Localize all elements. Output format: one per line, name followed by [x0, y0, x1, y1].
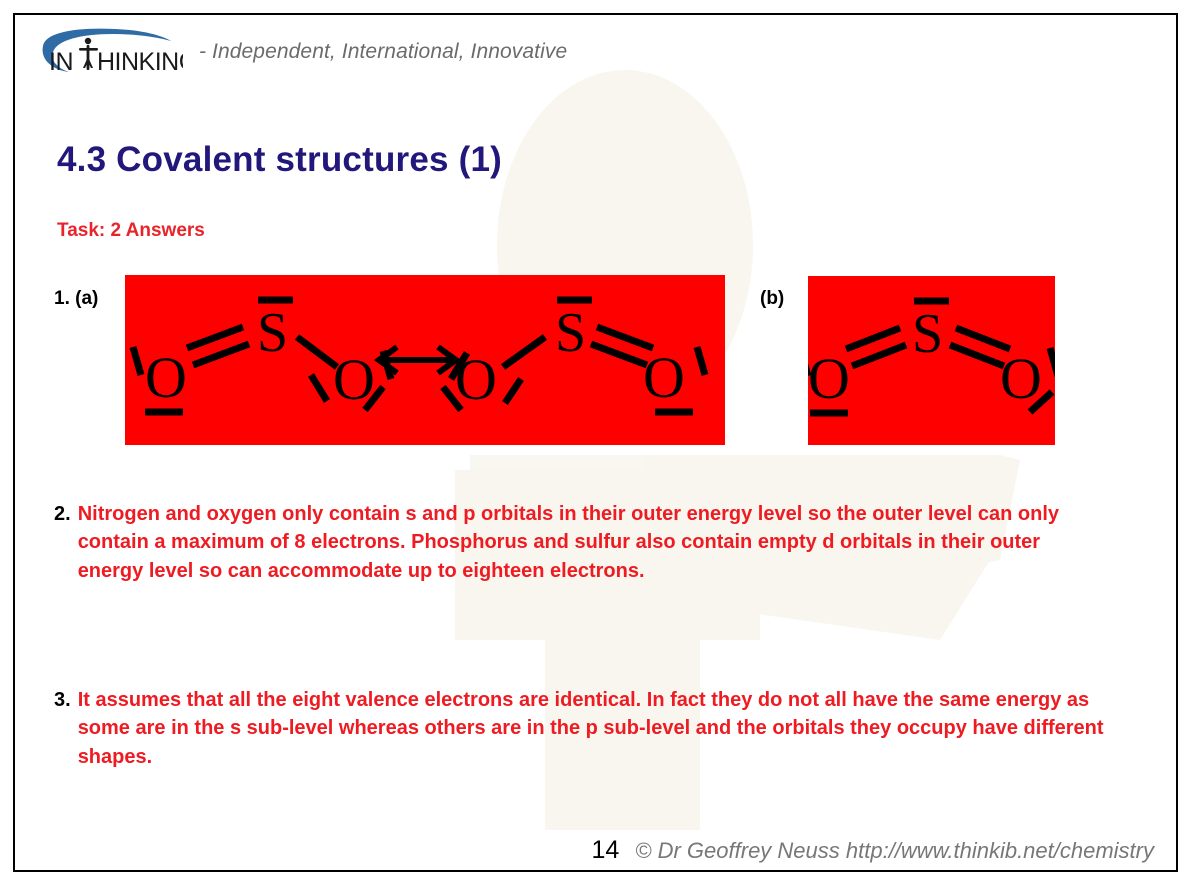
slide-footer: 14 © Dr Geoffrey Neuss http://www.thinki… [0, 836, 1192, 865]
answer-3-number: 3. [54, 686, 71, 714]
brand-header: IN HINKING - Independent, International,… [35, 26, 567, 78]
atom-label-o-left-1: O [145, 345, 187, 410]
slide: IN HINKING - Independent, International,… [0, 0, 1192, 887]
page-title: 4.3 Covalent structures (1) [57, 140, 502, 180]
copyright-notice: © Dr Geoffrey Neuss http://www.thinkib.n… [635, 838, 1154, 864]
resonance-arrow [379, 347, 456, 373]
question-1-part-b-label: (b) [760, 288, 784, 310]
so2-resonance-diagram: S O O [125, 275, 725, 445]
answer-2-text: Nitrogen and oxygen only contain s and p… [78, 500, 1084, 585]
logo-svg: IN HINKING [35, 26, 183, 78]
atom-label-o-left-b: O [808, 346, 850, 411]
so2-expanded-octet-diagram: S O O [808, 276, 1055, 445]
atom-label-o-right-2: O [643, 345, 685, 410]
inthinking-logo: IN HINKING [35, 26, 183, 78]
question-1-number: 1 [54, 288, 65, 309]
answer-3: 3. It assumes that all the eight valence… [54, 686, 1114, 771]
page-number: 14 [591, 836, 619, 865]
lewis-structure-box-b: S O O [808, 276, 1055, 445]
logo-person-figure [79, 38, 98, 70]
task-subtitle: Task: 2 Answers [57, 220, 205, 242]
atom-label-s-right: S [555, 302, 586, 364]
atom-label-o-right-b: O [1000, 346, 1042, 411]
question-1-part-a-label: . (a) [65, 288, 99, 309]
answer-3-text: It assumes that all the eight valence el… [78, 686, 1114, 771]
brand-tagline: - Independent, International, Innovative [199, 40, 567, 64]
answer-2: 2. Nitrogen and oxygen only contain s an… [54, 500, 1084, 585]
answer-2-number: 2. [54, 500, 71, 528]
atom-label-s-left: S [257, 302, 288, 364]
svg-text:HINKING: HINKING [97, 48, 183, 76]
svg-text:IN: IN [49, 48, 73, 76]
lewis-structure-box-a: S O O [125, 275, 725, 445]
question-1-label: 1. (a) [54, 288, 98, 310]
atom-label-s-b: S [912, 303, 943, 365]
